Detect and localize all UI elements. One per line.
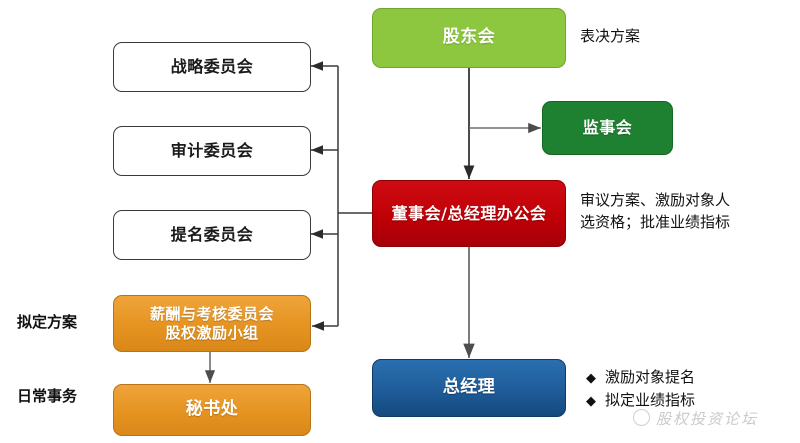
diamond-bullet-icon: ◆ — [586, 395, 596, 408]
diagram-canvas: 股东会 表决方案 监事会 董事会/总经理办公会 审议方案、激励对象人 选资格；批… — [0, 0, 800, 443]
node-audit-committee[interactable]: 审计委员会 — [113, 126, 311, 176]
node-nomination-committee-label: 提名委员会 — [171, 225, 254, 245]
annotation-shareholders-note: 表决方案 — [580, 26, 640, 48]
node-shareholders-meeting[interactable]: 股东会 — [372, 8, 566, 68]
node-compensation-committee[interactable]: 薪酬与考核委员会 股权激励小组 — [113, 295, 311, 352]
node-nomination-committee[interactable]: 提名委员会 — [113, 210, 311, 260]
gm-bullet-text: 拟定业绩指标 — [605, 389, 695, 412]
node-secretariat-label: 秘书处 — [186, 399, 239, 420]
gm-bullet-text: 激励对象提名 — [605, 366, 695, 389]
node-general-manager-label: 总经理 — [443, 377, 496, 398]
node-board-of-directors-label: 董事会/总经理办公会 — [392, 204, 547, 224]
gm-responsibility-list: ◆ 激励对象提名 ◆ 拟定业绩指标 — [586, 366, 695, 413]
wire-board-to-committees — [311, 66, 372, 326]
node-general-manager[interactable]: 总经理 — [372, 359, 566, 417]
annotation-board-note: 审议方案、激励对象人 选资格；批准业绩指标 — [580, 190, 790, 234]
node-board-of-directors[interactable]: 董事会/总经理办公会 — [372, 180, 566, 247]
node-audit-committee-label: 审计委员会 — [171, 141, 254, 161]
node-secretariat[interactable]: 秘书处 — [113, 384, 311, 436]
list-item: ◆ 拟定业绩指标 — [586, 389, 695, 412]
node-compensation-committee-line2: 股权激励小组 — [165, 324, 258, 343]
node-board-of-supervisors-label: 监事会 — [583, 118, 633, 138]
side-label-daily-affairs: 日常事务 — [17, 385, 77, 406]
node-shareholders-meeting-label: 股东会 — [443, 27, 496, 48]
node-compensation-committee-line1: 薪酬与考核委员会 — [150, 305, 274, 324]
node-strategy-committee-label: 战略委员会 — [171, 57, 254, 77]
side-label-draft-plan: 拟定方案 — [17, 311, 77, 332]
node-strategy-committee[interactable]: 战略委员会 — [113, 42, 311, 92]
list-item: ◆ 激励对象提名 — [586, 366, 695, 389]
diamond-bullet-icon: ◆ — [586, 372, 596, 385]
node-board-of-supervisors[interactable]: 监事会 — [542, 101, 673, 155]
